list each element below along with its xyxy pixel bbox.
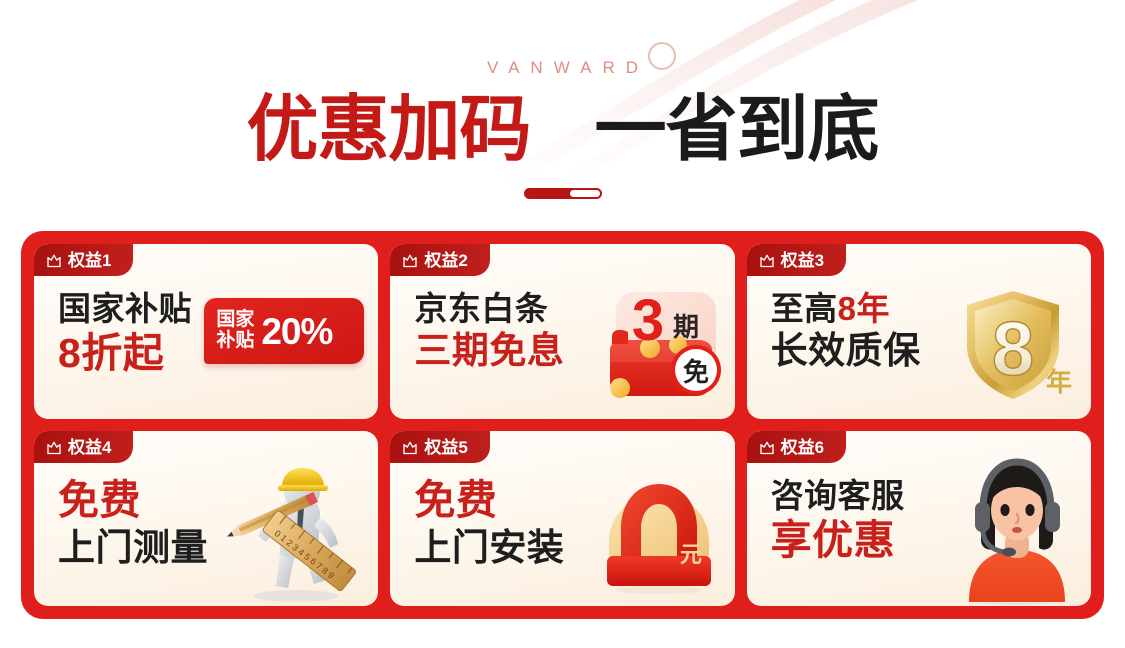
benefit-card-1[interactable]: 权益1 国家补贴 8折起 国家 补贴 20%	[34, 244, 378, 419]
benefit-badge-3: 权益3	[747, 244, 846, 276]
subsidy-tag-line1: 国家	[216, 310, 254, 331]
subsidy-tag: 国家 补贴 20%	[204, 298, 364, 364]
benefit-line1-4: 免费	[58, 477, 370, 525]
benefit-badge-label-5: 权益5	[424, 439, 467, 456]
benefit-badge-label-1: 权益1	[68, 252, 111, 269]
benefit-text-6: 咨询客服 享优惠	[771, 477, 1083, 596]
benefit-line2-4: 上门测量	[58, 527, 370, 570]
warranty-prefix: 至高	[771, 290, 838, 327]
brand-wordmark: VANWARD	[0, 58, 1125, 78]
benefit-card-4[interactable]: 权益4 免费 上门测量	[34, 431, 378, 606]
title-divider	[524, 188, 602, 199]
crown-icon	[759, 253, 775, 268]
subsidy-tag-percent: 20%	[261, 313, 332, 350]
benefit-line1-3: 至高8年	[771, 290, 1083, 328]
subsidy-tag-line2: 补贴	[216, 331, 254, 352]
benefit-badge-label-4: 权益4	[68, 439, 111, 456]
benefit-line2-6: 享优惠	[771, 517, 1083, 565]
benefit-text-2: 京东白条 三期免息	[414, 290, 726, 409]
page-title-red: 优惠加码	[246, 90, 530, 170]
benefit-card-2[interactable]: 权益2 京东白条 三期免息	[390, 244, 734, 419]
banner-header: VANWARD 优惠加码 一省到底	[0, 0, 1125, 222]
benefit-card-3[interactable]: 权益3 至高8年 长效质保	[747, 244, 1091, 419]
benefit-card-6[interactable]: 权益6 咨询客服 享优惠	[747, 431, 1091, 606]
benefit-badge-4: 权益4	[34, 431, 133, 463]
page-title-black: 一省到底	[595, 90, 879, 170]
benefit-line1-5: 免费	[414, 477, 726, 525]
benefit-badge-2: 权益2	[390, 244, 489, 276]
benefit-badge-label-6: 权益6	[781, 439, 824, 456]
crown-icon	[46, 253, 62, 268]
benefits-grid: 权益1 国家补贴 8折起 国家 补贴 20% 权益2 京东白条 三期免息	[21, 231, 1104, 619]
benefit-badge-5: 权益5	[390, 431, 489, 463]
benefit-badge-1: 权益1	[34, 244, 133, 276]
subsidy-tag-stack: 国家 补贴	[216, 310, 254, 351]
benefit-line1-6: 咨询客服	[771, 477, 1083, 515]
benefit-badge-label-3: 权益3	[781, 252, 824, 269]
crown-icon	[402, 440, 418, 455]
crown-icon	[402, 253, 418, 268]
benefit-line2-3: 长效质保	[771, 330, 1083, 373]
crown-icon	[759, 440, 775, 455]
crown-icon	[46, 440, 62, 455]
benefit-line1-2: 京东白条	[414, 290, 726, 328]
benefit-text-4: 免费 上门测量	[58, 477, 370, 596]
benefit-badge-6: 权益6	[747, 431, 846, 463]
benefit-badge-label-2: 权益2	[424, 252, 467, 269]
benefit-text-3: 至高8年 长效质保	[771, 290, 1083, 409]
benefit-card-5[interactable]: 权益5 免费 上门安装	[390, 431, 734, 606]
benefit-line2-2: 三期免息	[414, 330, 726, 373]
benefit-text-5: 免费 上门安装	[414, 477, 726, 596]
page-title: 优惠加码 一省到底	[0, 88, 1125, 172]
benefit-line2-5: 上门安装	[414, 527, 726, 570]
warranty-highlight: 8年	[838, 290, 890, 327]
